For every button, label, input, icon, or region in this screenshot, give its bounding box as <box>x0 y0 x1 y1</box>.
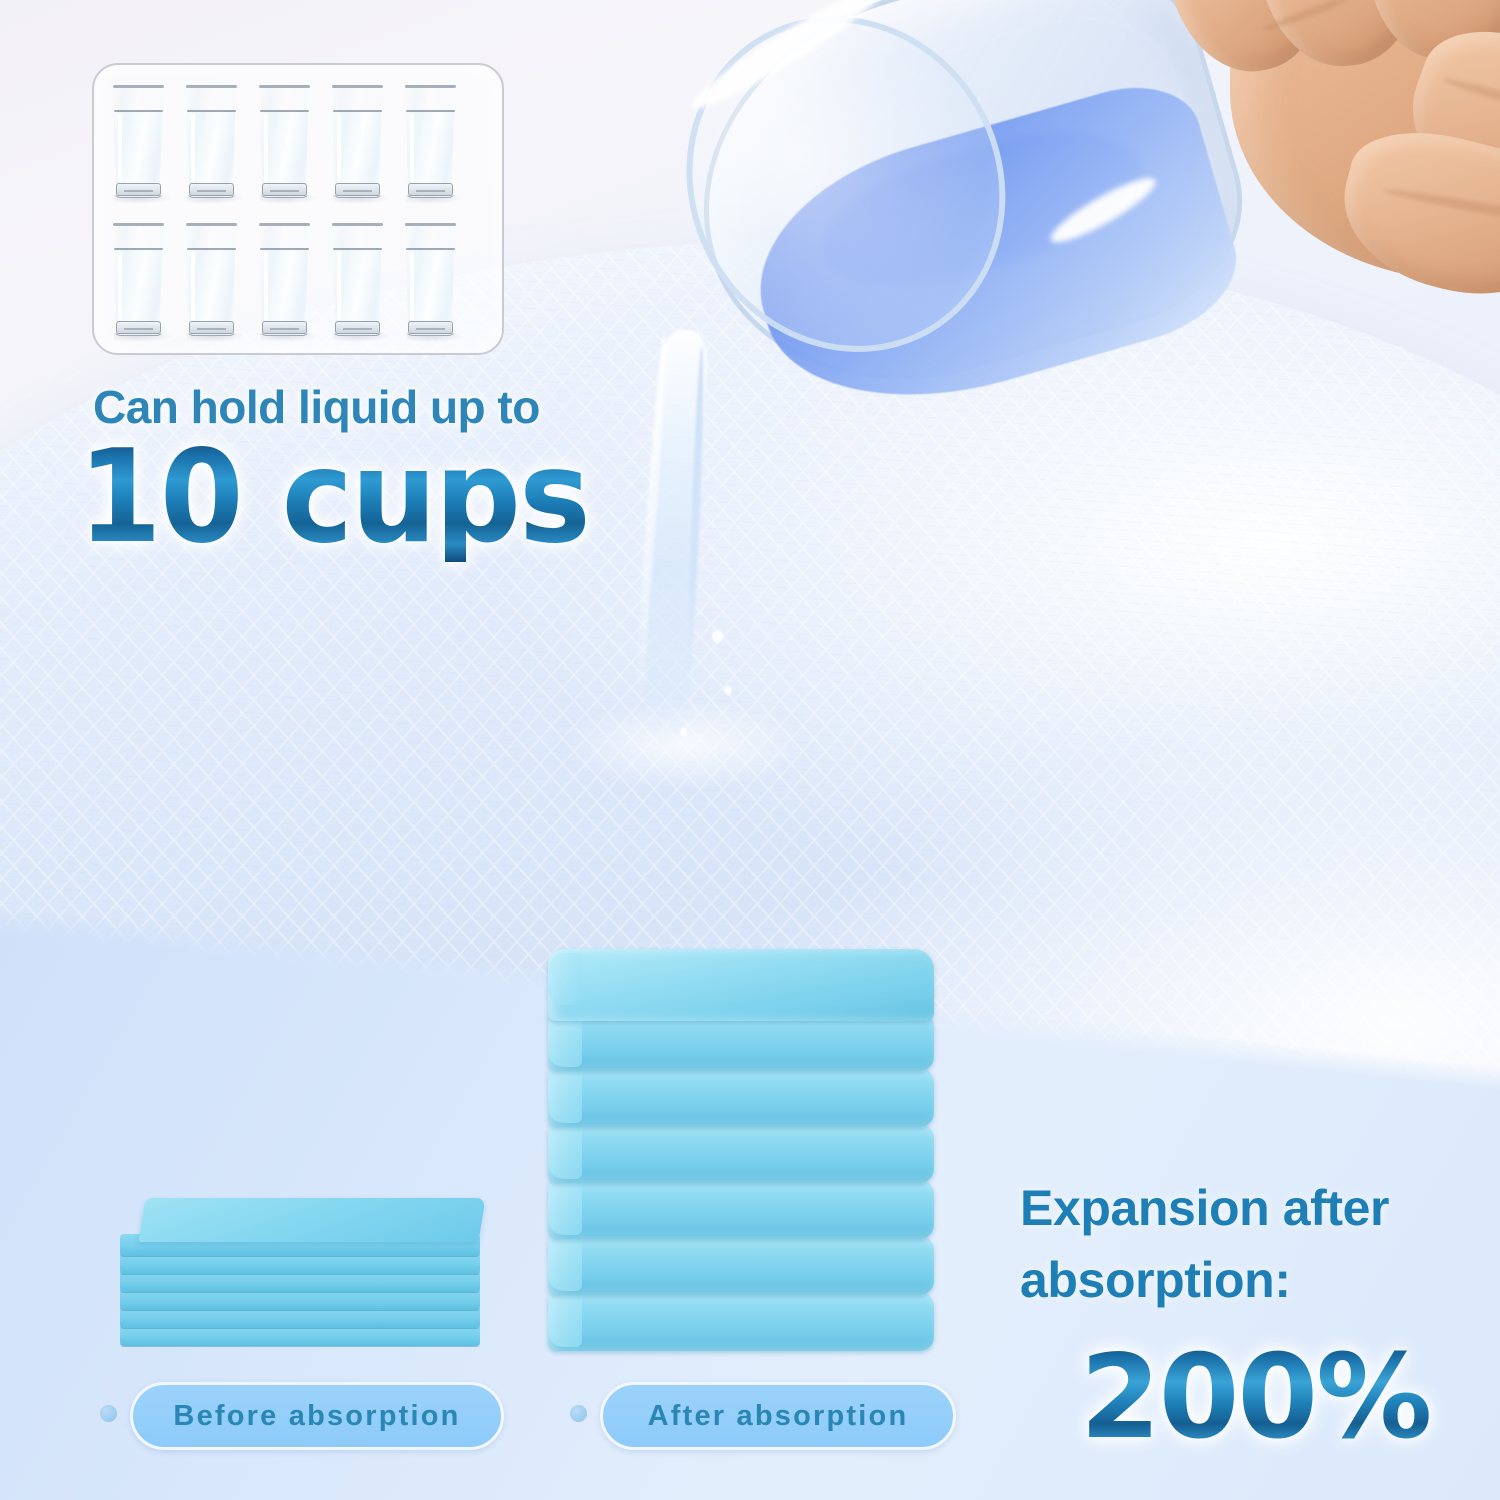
glass-waterline <box>333 110 382 112</box>
glass-base-mark <box>416 190 446 192</box>
expansion-line-2: absorption: <box>1020 1244 1480 1316</box>
pad-fold-end <box>548 1183 582 1235</box>
pad-fold <box>548 1179 934 1239</box>
product-feature-image: Can hold liquid up to 10 cups Before abs… <box>0 0 1500 1500</box>
glass-rim <box>405 85 457 88</box>
pad-fold <box>548 1067 934 1127</box>
glass-rim <box>259 85 311 88</box>
water-glass-icon <box>258 85 311 198</box>
thick-pad-stack-icon <box>548 955 948 1355</box>
glass-rim <box>113 85 165 88</box>
water-glass-icon <box>185 85 238 198</box>
caption-before-absorption: Before absorption <box>130 1382 504 1450</box>
glass-waterline <box>114 110 163 112</box>
glass-shine <box>264 114 268 182</box>
expansion-line-1: Expansion after <box>1020 1180 1389 1236</box>
glass-waterline <box>406 110 455 112</box>
glass-base-mark <box>197 190 227 192</box>
droplet-1 <box>712 630 723 643</box>
water-glass-icon <box>331 223 384 336</box>
glass-row-top <box>112 85 457 198</box>
pad-fold-end <box>548 953 582 1005</box>
water-glass-icon <box>258 223 311 336</box>
water-glass-icon <box>112 223 165 336</box>
glass-shine <box>118 252 122 320</box>
glass-base-mark <box>343 328 373 330</box>
glass-base-mark <box>343 190 373 192</box>
pad-fold <box>548 1123 934 1183</box>
glass-shine <box>410 252 414 320</box>
pad-fold-end <box>548 1071 582 1123</box>
glass-base-mark <box>270 190 300 192</box>
pad-fold <box>548 1291 934 1351</box>
capacity-value: 10 cups <box>78 434 589 562</box>
glass-rim <box>186 223 238 226</box>
glass-shine <box>337 114 341 182</box>
glass-waterline <box>406 248 455 250</box>
glass-rim <box>332 85 384 88</box>
pad-fold-end <box>548 1127 582 1179</box>
glass-rim <box>186 85 238 88</box>
glass-waterline <box>333 248 382 250</box>
glass-rim <box>259 223 311 226</box>
pad-top-surface <box>139 1198 486 1242</box>
glass-base-mark <box>124 190 154 192</box>
droplet-2 <box>724 686 732 695</box>
water-glass-icon <box>331 85 384 198</box>
bullet-dot-icon <box>100 1405 117 1422</box>
water-glass-icon <box>404 85 457 198</box>
glass-base-mark <box>197 328 227 330</box>
glass-row-bottom <box>112 223 457 336</box>
water-glass-icon <box>112 85 165 198</box>
glass-shine <box>191 114 195 182</box>
glass-shine <box>118 114 122 182</box>
glass-shine <box>410 114 414 182</box>
glass-base-mark <box>124 328 154 330</box>
bullet-dot-icon <box>570 1405 587 1422</box>
thin-pad-stack-icon <box>120 1198 500 1346</box>
glass-rim <box>332 223 384 226</box>
glass-shine <box>264 252 268 320</box>
glass-waterline <box>260 110 309 112</box>
pour-scene <box>640 0 1500 440</box>
water-stream-icon <box>620 330 740 760</box>
water-glass-icon <box>404 223 457 336</box>
glass-waterline <box>187 110 236 112</box>
pad-fold-end <box>548 1239 582 1291</box>
glass-rim <box>113 223 165 226</box>
glass-rim <box>405 223 457 226</box>
glass-base-mark <box>416 328 446 330</box>
caption-after-absorption: After absorption <box>600 1382 956 1450</box>
pad-fold-end <box>548 1015 582 1067</box>
hand-holding-glass-icon <box>1110 0 1500 360</box>
pad-fold-end <box>548 1295 582 1347</box>
glass-base-mark <box>270 328 300 330</box>
glass-waterline <box>260 248 309 250</box>
glass-shine <box>337 252 341 320</box>
glass-waterline <box>187 248 236 250</box>
expansion-value: 200% <box>1080 1340 1430 1456</box>
droplet-3 <box>680 728 687 736</box>
water-glasses-panel <box>92 63 504 355</box>
pad-fold-top <box>548 949 934 1021</box>
expansion-heading: Expansion after absorption: <box>1020 1172 1480 1316</box>
glass-shine <box>191 252 195 320</box>
pad-fold <box>548 1235 934 1295</box>
glass-waterline <box>114 248 163 250</box>
water-glass-icon <box>185 223 238 336</box>
